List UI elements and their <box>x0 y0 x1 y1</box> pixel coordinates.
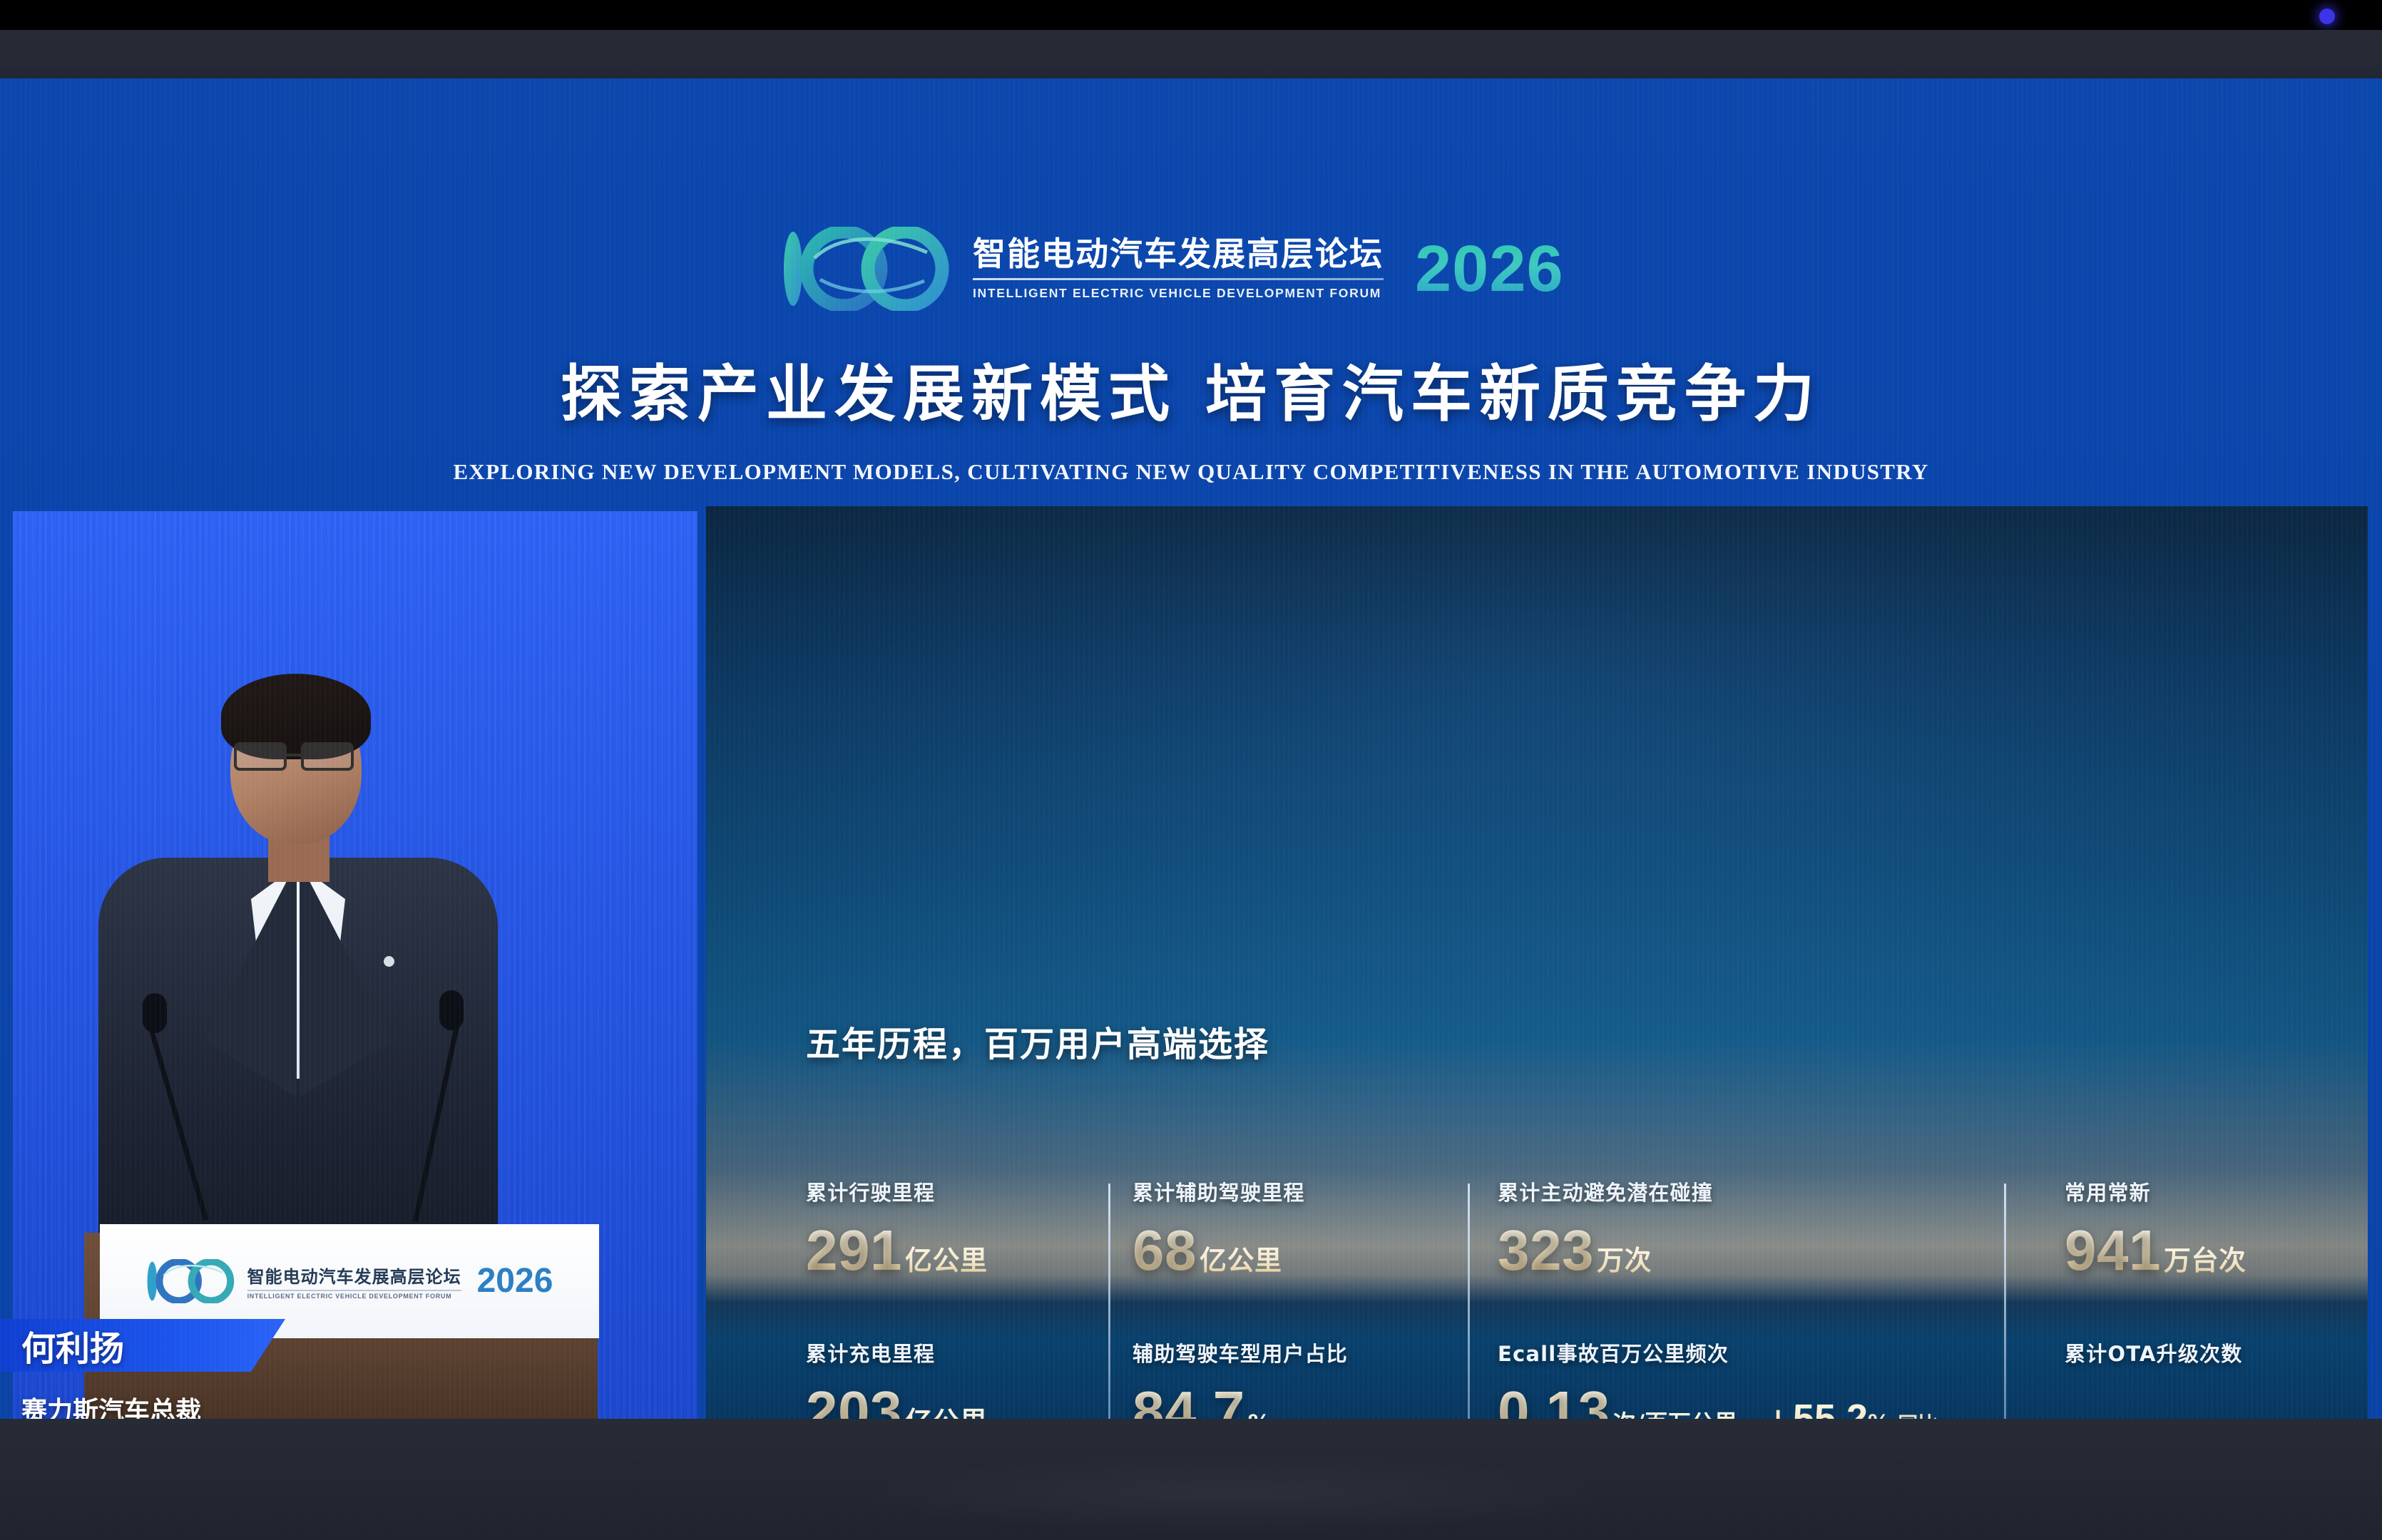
stat-block: 累计主动避免潜在碰撞 323 万次 <box>1498 1176 2018 1279</box>
stat-label: Ecall事故百万公里频次 <box>1498 1338 2018 1367</box>
speaker-name: 何利扬 <box>0 1320 124 1370</box>
stat-label: 累计行驶里程 <box>806 1176 1113 1206</box>
stat-unit: 亿公里 <box>905 1238 988 1278</box>
stat-value: 941 <box>2065 1222 2161 1279</box>
microphone-left-head <box>143 993 167 1033</box>
speaker-name-plate: 何利扬 <box>0 1319 285 1372</box>
speaker-glasses-right-lens <box>301 742 354 771</box>
letterbox-top-grey <box>0 30 2382 78</box>
podium-sign-name-en: INTELLIGENT ELECTRIC VEHICLE DEVELOPMENT… <box>247 1293 461 1300</box>
event-year: 2026 <box>1415 240 1564 299</box>
speaker-video-tile: 智能电动汽车发展高层论坛 INTELLIGENT ELECTRIC VEHICL… <box>13 511 697 1452</box>
speaker-glasses-bridge <box>287 754 301 756</box>
event-logo-lockup: 智能电动汽车发展高层论坛 INTELLIGENT ELECTRIC VEHICL… <box>777 227 1564 311</box>
stat-value-row: 941 万台次 <box>2065 1222 2350 1279</box>
stat-block: 累计辅助驾驶里程 68 亿公里 <box>1133 1176 1468 1279</box>
podium-sign-text: 智能电动汽车发展高层论坛 INTELLIGENT ELECTRIC VEHICL… <box>247 1263 461 1300</box>
broadcast-frame: 智能电动汽车发展高层论坛 INTELLIGENT ELECTRIC VEHICL… <box>0 0 2382 1540</box>
stat-value: 291 <box>806 1222 902 1279</box>
speaker-lapel-pin <box>384 956 394 967</box>
stat-label: 辅助驾驶车型用户占比 <box>1133 1338 1468 1367</box>
headline-chinese: 探索产业发展新模式 培育汽车新质竞争力 <box>0 344 2382 433</box>
recording-dot-icon <box>2319 9 2335 24</box>
stage-backdrop: 智能电动汽车发展高层论坛 INTELLIGENT ELECTRIC VEHICL… <box>0 78 2382 1419</box>
podium-100-logo-icon <box>143 1259 237 1303</box>
podium-sign-content: 智能电动汽车发展高层论坛 INTELLIGENT ELECTRIC VEHICL… <box>113 1236 583 1327</box>
podium-sign-year: 2026 <box>477 1264 553 1298</box>
stat-value-row: 291 亿公里 <box>806 1222 1113 1279</box>
stat-label: 累计OTA升级次数 <box>2065 1338 2350 1367</box>
stats-column-1: 累计行驶里程 291 亿公里 累计充电里程 203 亿公里 <box>806 1176 1113 1454</box>
event-name-cn: 智能电动汽车发展高层论坛 <box>973 237 1384 271</box>
event-logo-divider <box>973 278 1384 280</box>
column-divider-2 <box>1468 1184 1470 1454</box>
microphone-right-head <box>439 990 464 1030</box>
background-watermark <box>842 1454 1626 1533</box>
stat-value-row: 68 亿公里 <box>1133 1222 1468 1279</box>
presentation-slide: 五年历程，百万用户高端选择 累计行驶里程 291 亿公里 累计充电里 <box>706 506 2368 1454</box>
stat-label: 累计辅助驾驶里程 <box>1133 1176 1468 1206</box>
stat-block: 累计OTA升级次数 <box>2065 1338 2350 1367</box>
speaker-glasses-left-lens <box>234 742 287 771</box>
stat-value-row: 323 万次 <box>1498 1222 2018 1279</box>
headline-english: EXPLORING NEW DEVELOPMENT MODELS, CULTIV… <box>0 459 2382 485</box>
stat-value: 68 <box>1133 1222 1197 1279</box>
stat-value: 323 <box>1498 1222 1594 1279</box>
stat-block: 常用常新 941 万台次 <box>2065 1176 2350 1279</box>
letterbox-top-black <box>0 0 2382 30</box>
stat-unit: 万台次 <box>2164 1238 2246 1278</box>
event-logo-text: 智能电动汽车发展高层论坛 INTELLIGENT ELECTRIC VEHICL… <box>973 237 1384 300</box>
stats-grid: 累计行驶里程 291 亿公里 累计充电里程 203 亿公里 <box>792 1176 2318 1454</box>
event-name-en: INTELLIGENT ELECTRIC VEHICLE DEVELOPMENT… <box>973 286 1384 301</box>
forum-100-logo-icon <box>777 227 954 311</box>
stat-unit: 亿公里 <box>1200 1238 1282 1278</box>
slide-title: 五年历程，百万用户高端选择 <box>806 1016 1269 1066</box>
stat-label: 累计充电里程 <box>806 1338 1113 1367</box>
stats-column-4: 常用常新 941 万台次 累计OTA升级次数 <box>2065 1176 2350 1454</box>
stat-unit: 万次 <box>1597 1238 1652 1278</box>
podium-sign-name-cn: 智能电动汽车发展高层论坛 <box>247 1263 461 1288</box>
stats-column-2: 累计辅助驾驶里程 68 亿公里 辅助驾驶车型用户占比 84.7 % <box>1133 1176 1468 1454</box>
stat-label: 累计主动避免潜在碰撞 <box>1498 1176 2018 1206</box>
stats-column-3: 累计主动避免潜在碰撞 323 万次 Ecall事故百万公里频次 0.13 次/百… <box>1498 1176 2018 1454</box>
stat-label: 常用常新 <box>2065 1176 2350 1206</box>
podium-sign-divider <box>247 1290 461 1291</box>
stat-block: 累计行驶里程 291 亿公里 <box>806 1176 1113 1279</box>
